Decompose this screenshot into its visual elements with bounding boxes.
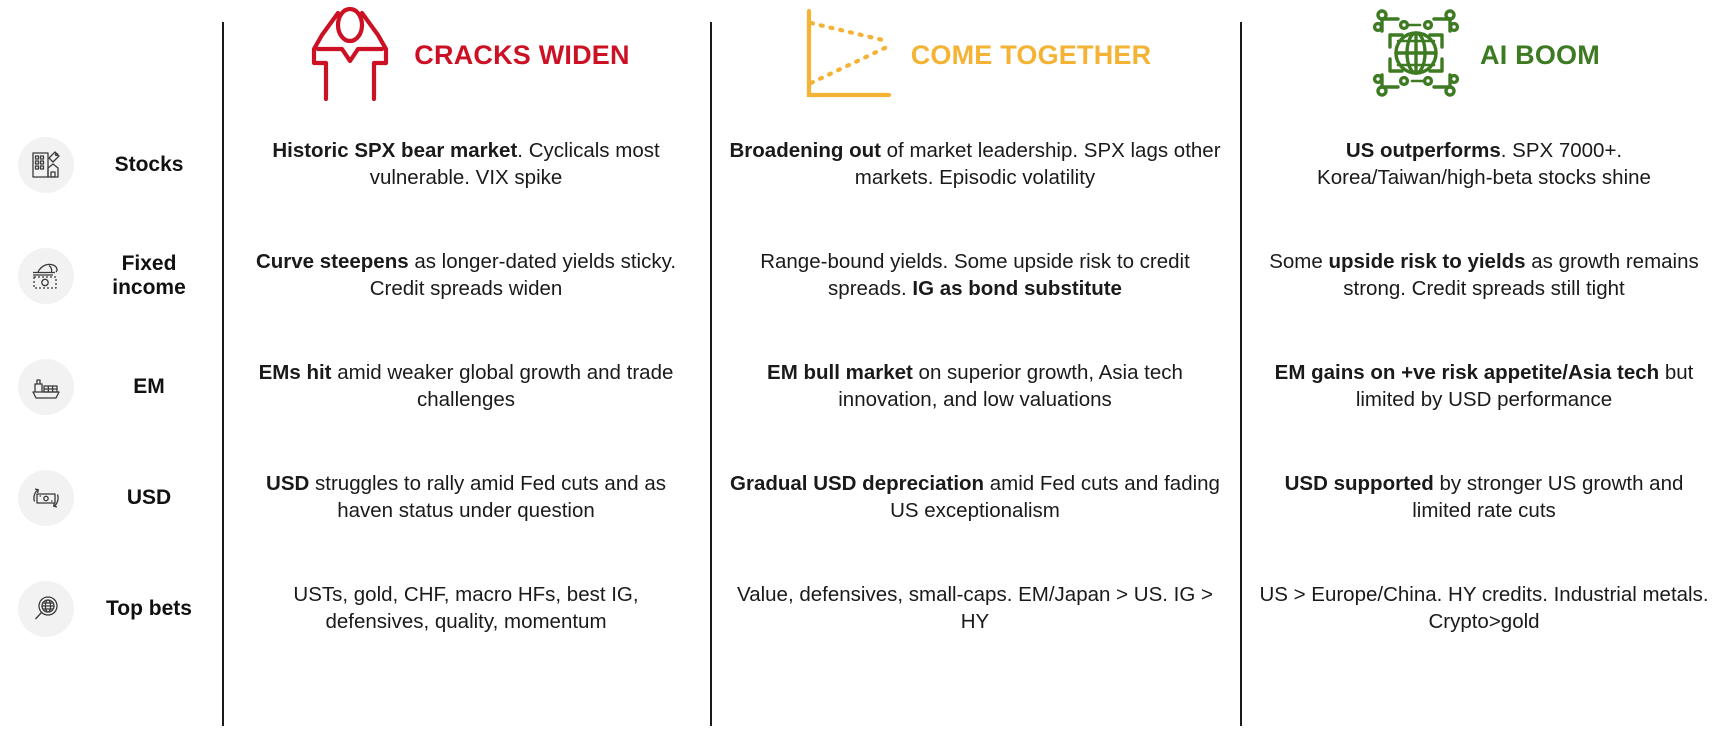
- cell-text: USD struggles to rally amid Fed cuts and…: [240, 471, 692, 524]
- cell-text: Gradual USD depreciation amid Fed cuts a…: [728, 471, 1222, 524]
- cell-text: US > Europe/China. HY credits. Industria…: [1258, 582, 1710, 635]
- row-label-top-bets: Top bets: [0, 554, 222, 664]
- cell-text: Some upside risk to yields as growth rem…: [1258, 249, 1710, 302]
- globe-circuit-icon: [1368, 5, 1464, 106]
- scenario-title: CRACKS WIDEN: [414, 40, 629, 71]
- row-label-em: EM: [0, 332, 222, 442]
- currency-exchange-icon: [18, 470, 74, 526]
- row-label-text: Stocks: [90, 153, 222, 177]
- scenario-title: COME TOGETHER: [911, 40, 1152, 71]
- cell-text: Range-bound yields. Some upside risk to …: [728, 249, 1222, 302]
- row-label-text: USD: [90, 486, 222, 510]
- hand-banknote-icon: [18, 248, 74, 304]
- row-label-fixed-income: Fixed income: [0, 220, 222, 332]
- cell-fixed-income-ai-boom: Some upside risk to yields as growth rem…: [1240, 220, 1728, 332]
- matrix-grid: CRACKS WIDEN COME TOGETHER: [0, 0, 1728, 730]
- cargo-ship-icon: [18, 359, 74, 415]
- cell-text: USTs, gold, CHF, macro HFs, best IG, def…: [240, 582, 692, 635]
- matrix-corner-cell: [0, 0, 222, 110]
- cell-top-bets-ai-boom: US > Europe/China. HY credits. Industria…: [1240, 554, 1728, 664]
- cell-text: US outperforms. SPX 7000+. Korea/Taiwan/…: [1258, 138, 1710, 191]
- buildings-tag-icon: [18, 137, 74, 193]
- falling-person-icon: [302, 5, 398, 106]
- cell-stocks-cracks-widen: Historic SPX bear market. Cyclicals most…: [222, 110, 710, 220]
- row-label-text: Top bets: [90, 597, 222, 621]
- row-label-stocks: Stocks: [0, 110, 222, 220]
- cell-em-come-together: EM bull market on superior growth, Asia …: [710, 332, 1240, 442]
- cell-usd-come-together: Gradual USD depreciation amid Fed cuts a…: [710, 442, 1240, 554]
- cell-text: EM gains on +ve risk appetite/Asia tech …: [1258, 360, 1710, 413]
- cell-fixed-income-cracks-widen: Curve steepens as longer-dated yields st…: [222, 220, 710, 332]
- cell-fixed-income-come-together: Range-bound yields. Some upside risk to …: [710, 220, 1240, 332]
- row-label-usd: USD: [0, 442, 222, 554]
- cell-text: EMs hit amid weaker global growth and tr…: [240, 360, 692, 413]
- scenario-header-cracks-widen: CRACKS WIDEN: [222, 0, 710, 110]
- cell-usd-cracks-widen: USD struggles to rally amid Fed cuts and…: [222, 442, 710, 554]
- cell-text: Broadening out of market leadership. SPX…: [728, 138, 1222, 191]
- cell-em-ai-boom: EM gains on +ve risk appetite/Asia tech …: [1240, 332, 1728, 442]
- row-label-text: Fixed income: [90, 252, 222, 300]
- scenario-header-ai-boom: AI BOOM: [1240, 0, 1728, 110]
- cell-top-bets-come-together: Value, defensives, small-caps. EM/Japan …: [710, 554, 1240, 664]
- scenario-matrix: CRACKS WIDEN COME TOGETHER: [0, 0, 1728, 730]
- converging-dotted-lines-chart-icon: [799, 5, 895, 106]
- cell-stocks-come-together: Broadening out of market leadership. SPX…: [710, 110, 1240, 220]
- cell-text: USD supported by stronger US growth and …: [1258, 471, 1710, 524]
- magnifier-globe-icon: [18, 581, 74, 637]
- cell-stocks-ai-boom: US outperforms. SPX 7000+. Korea/Taiwan/…: [1240, 110, 1728, 220]
- cell-top-bets-cracks-widen: USTs, gold, CHF, macro HFs, best IG, def…: [222, 554, 710, 664]
- row-label-text: EM: [90, 375, 222, 399]
- cell-em-cracks-widen: EMs hit amid weaker global growth and tr…: [222, 332, 710, 442]
- cell-usd-ai-boom: USD supported by stronger US growth and …: [1240, 442, 1728, 554]
- cell-text: Curve steepens as longer-dated yields st…: [240, 249, 692, 302]
- scenario-title: AI BOOM: [1480, 40, 1600, 71]
- cell-text: Historic SPX bear market. Cyclicals most…: [240, 138, 692, 191]
- cell-text: Value, defensives, small-caps. EM/Japan …: [728, 582, 1222, 635]
- scenario-header-come-together: COME TOGETHER: [710, 0, 1240, 110]
- cell-text: EM bull market on superior growth, Asia …: [728, 360, 1222, 413]
